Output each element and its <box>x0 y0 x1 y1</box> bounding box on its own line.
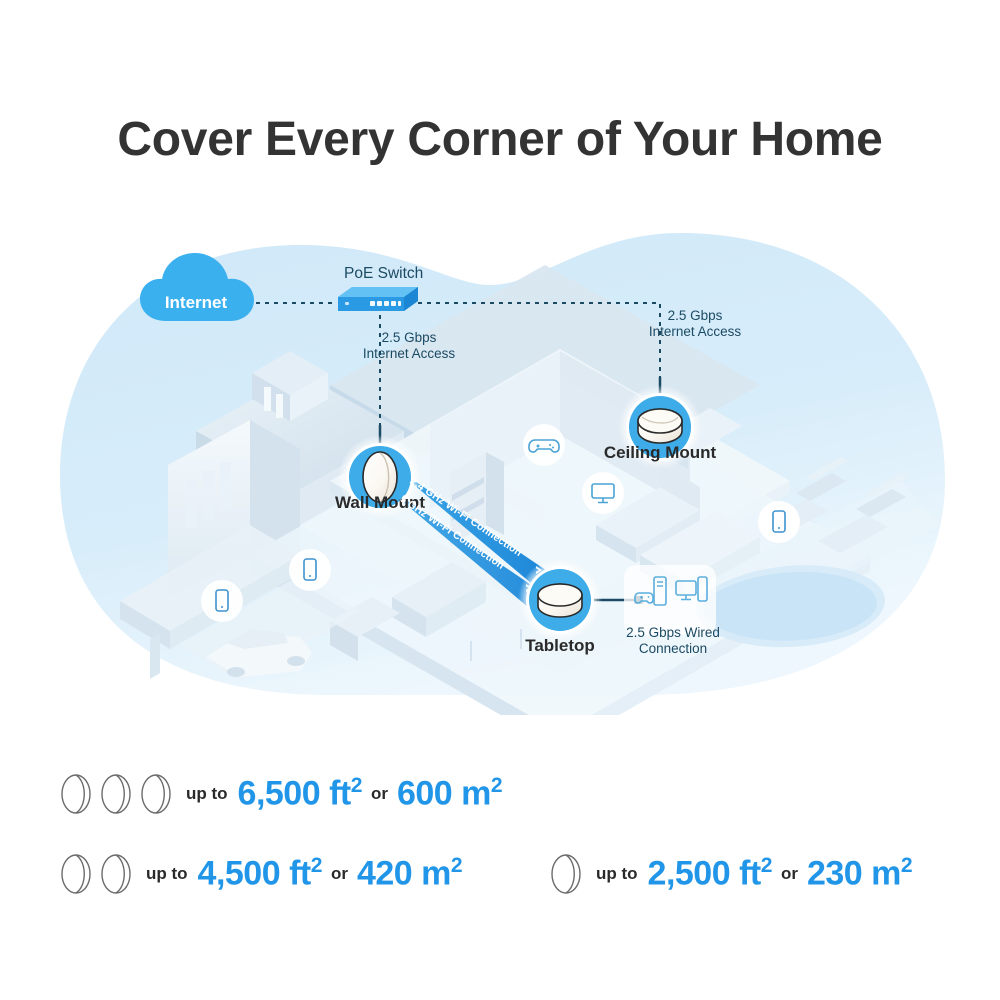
wall-mount-callout-line2: Internet Access <box>329 346 489 362</box>
coverage-or-label: or <box>331 864 348 884</box>
internet-cloud-label: Internet <box>150 293 242 313</box>
ceiling-mount-callout-line2: Internet Access <box>610 324 780 340</box>
coverage-or-label: or <box>781 864 798 884</box>
unit-icon <box>58 773 94 815</box>
unit-icon <box>98 853 134 895</box>
coverage-upto-label: up to <box>596 864 638 884</box>
coverage-m-value: 600 m2 <box>397 774 502 813</box>
unit-icon <box>58 853 94 895</box>
coverage-m-value: 230 m2 <box>807 854 912 893</box>
coverage-ft-value: 6,500 ft2 <box>238 774 362 813</box>
ceiling-mount-callout-line1: 2.5 Gbps <box>610 308 780 324</box>
coverage-row: up to 4,500 ft2 or 420 m2 <box>58 853 462 895</box>
home-coverage-diagram: Internet PoE Switch 2.5 Gbps Internet Ac… <box>0 225 1000 715</box>
coverage-m-value: 420 m2 <box>357 854 462 893</box>
ceiling-mount-label: Ceiling Mount <box>570 443 750 463</box>
unit-count-icons <box>58 773 174 815</box>
coverage-ft-value: 2,500 ft2 <box>648 854 772 893</box>
coverage-ft-value: 4,500 ft2 <box>198 854 322 893</box>
wall-mount-callout-line1: 2.5 Gbps <box>329 330 489 346</box>
coverage-upto-label: up to <box>146 864 188 884</box>
coverage-row: up to 6,500 ft2 or 600 m2 <box>58 773 502 815</box>
unit-count-icons <box>58 853 134 895</box>
page-title: Cover Every Corner of Your Home <box>0 112 1000 167</box>
coverage-upto-label: up to <box>186 784 228 804</box>
unit-icon <box>138 773 174 815</box>
unit-icon <box>98 773 134 815</box>
poe-switch-label: PoE Switch <box>344 265 423 283</box>
tabletop-label: Tabletop <box>470 636 650 656</box>
unit-count-icons <box>548 853 584 895</box>
unit-icon <box>548 853 584 895</box>
coverage-area-summary: up to 6,500 ft2 or 600 m2 up to 4,500 ft… <box>0 755 1000 930</box>
coverage-or-label: or <box>371 784 388 804</box>
product-feature-page: Cover Every Corner of Your Home <box>0 0 1000 1000</box>
diagram-text-labels: Internet PoE Switch 2.5 Gbps Internet Ac… <box>0 225 1000 715</box>
coverage-row: up to 2,500 ft2 or 230 m2 <box>548 853 912 895</box>
